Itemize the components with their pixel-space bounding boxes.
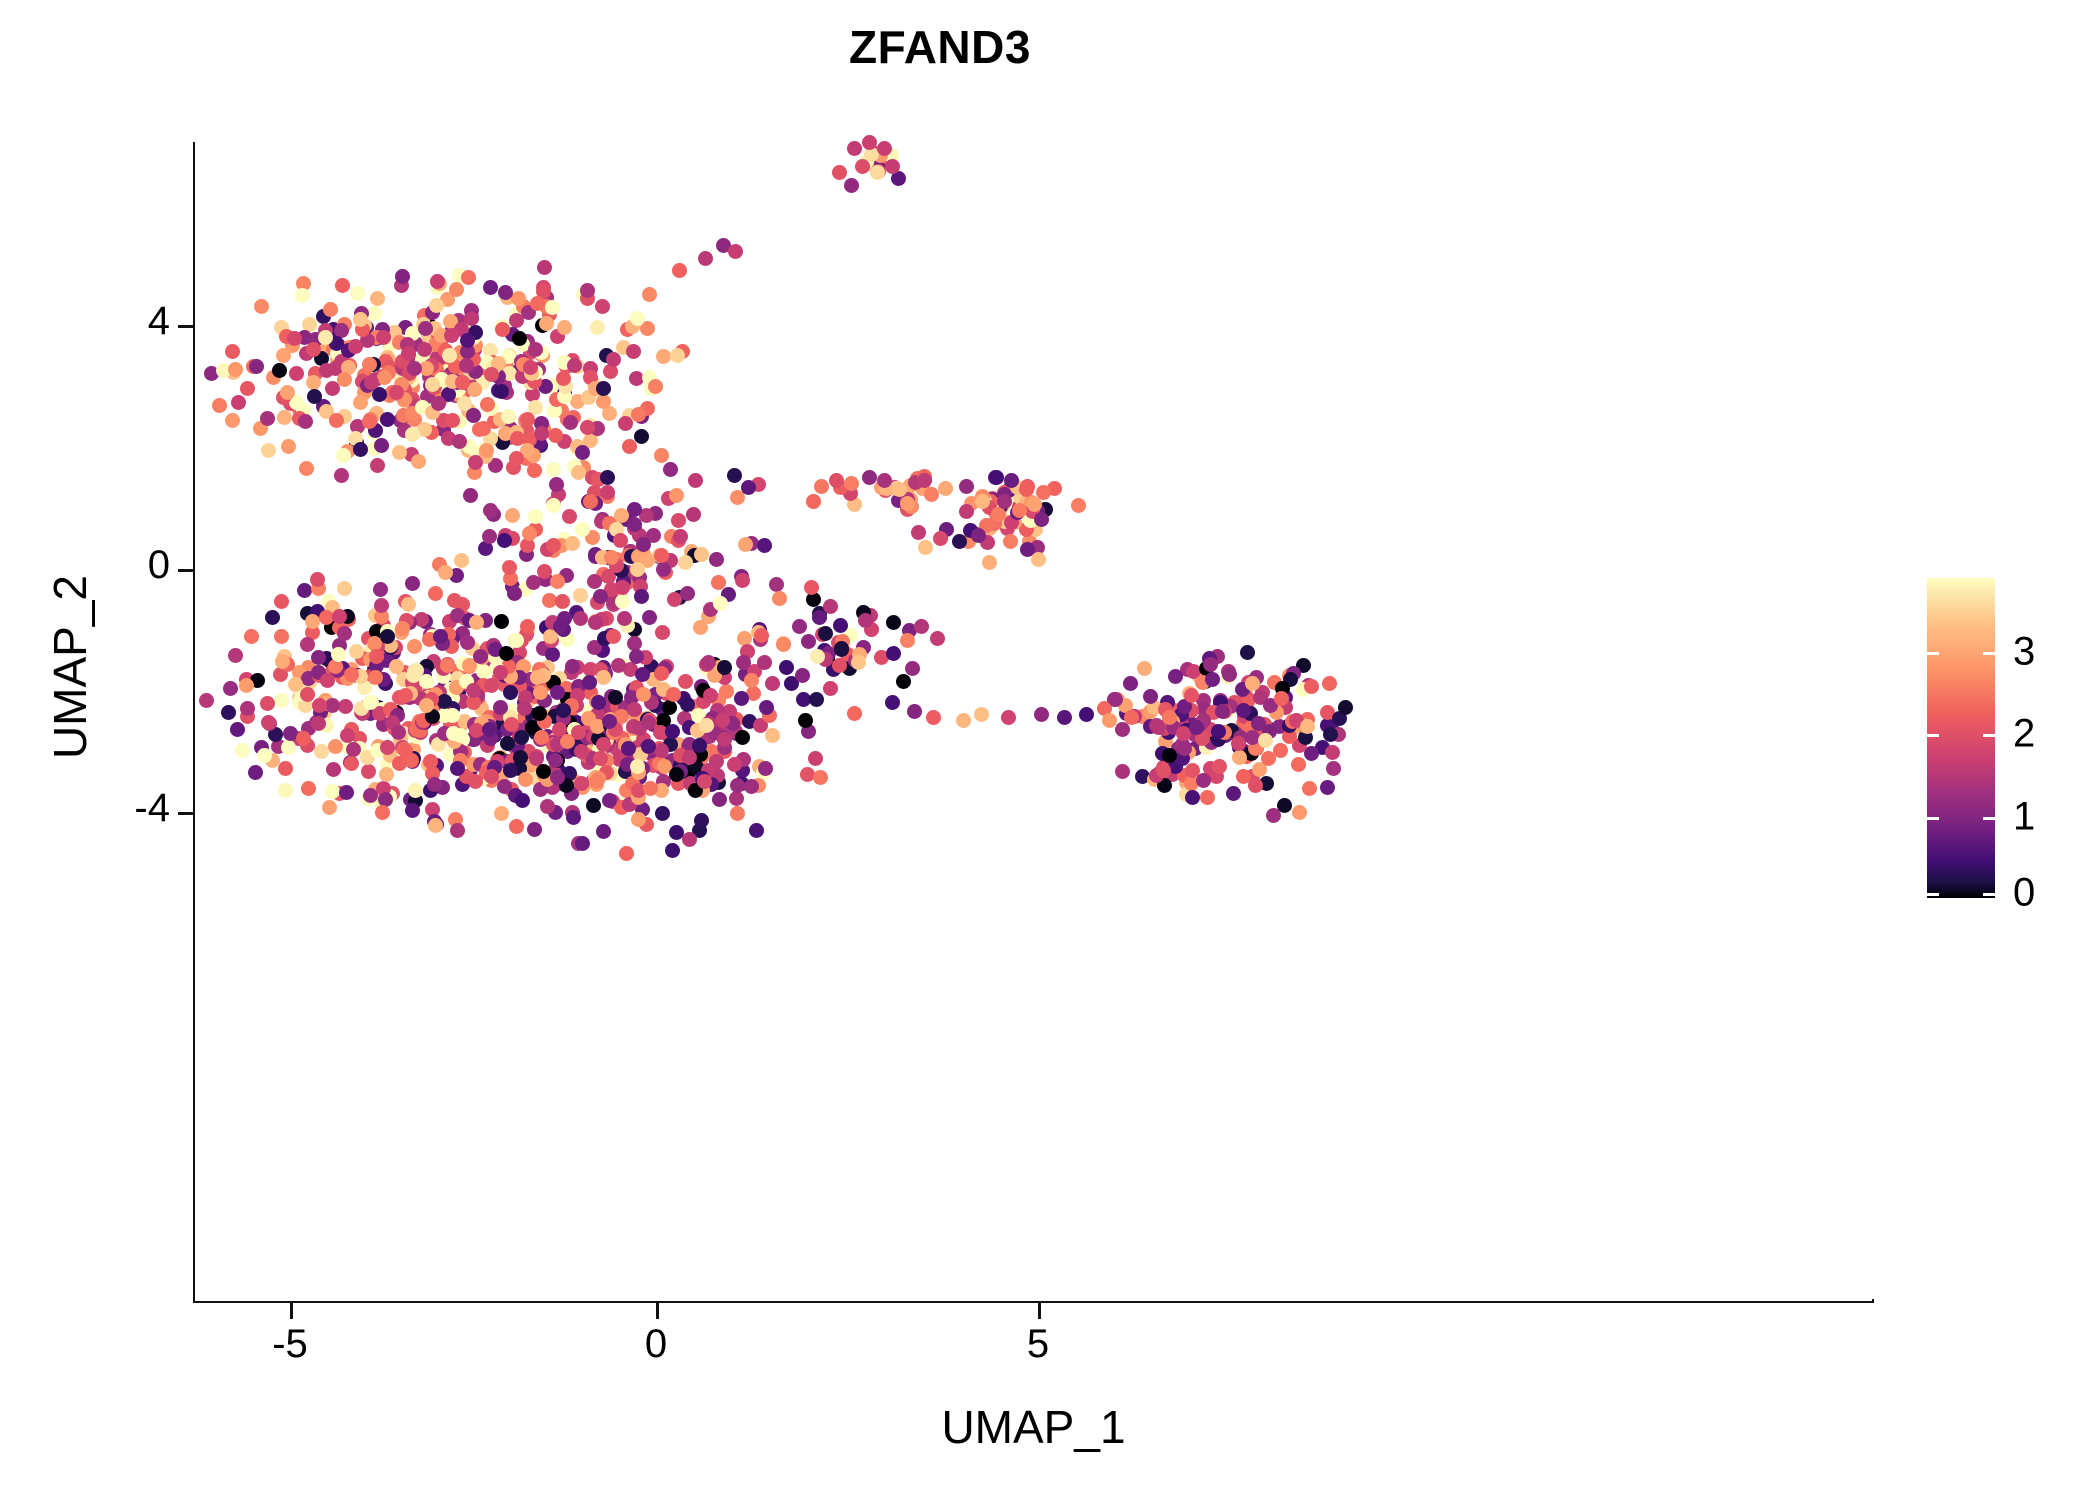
scatter-point [596, 670, 611, 685]
scatter-point [565, 536, 580, 551]
scatter-point [362, 414, 377, 429]
scatter-point [795, 668, 810, 683]
scatter-point [997, 494, 1012, 509]
scatter-point [1302, 781, 1317, 796]
scatter-point [329, 413, 344, 428]
scatter-point [1236, 703, 1251, 718]
scatter-point [484, 367, 499, 382]
scatter-point [427, 777, 442, 792]
scatter-point [254, 299, 269, 314]
scatter-point [499, 646, 514, 661]
scatter-point [1300, 719, 1315, 734]
scatter-point [669, 488, 684, 503]
scatter-point [808, 751, 823, 766]
scatter-point [301, 781, 316, 796]
scatter-point [468, 774, 483, 789]
scatter-point [776, 637, 791, 652]
scatter-point [728, 244, 743, 259]
scatter-point [565, 659, 580, 674]
scatter-point [938, 481, 953, 496]
scatter-point [417, 342, 432, 357]
y-tick-mark [178, 325, 194, 328]
scatter-point [602, 714, 617, 729]
scatter-point [501, 409, 516, 424]
scatter-point [528, 509, 543, 524]
scatter-point [469, 615, 484, 630]
legend-tick-mark [1927, 817, 1939, 820]
scatter-point [911, 525, 926, 540]
scatter-point [479, 443, 494, 458]
scatter-point [322, 800, 337, 815]
scatter-point [377, 370, 392, 385]
scatter-point [1102, 713, 1117, 728]
scatter-point [717, 660, 732, 675]
scatter-point [907, 704, 922, 719]
scatter-point [1079, 707, 1094, 722]
scatter-point [600, 470, 615, 485]
scatter-point [306, 342, 321, 357]
scatter-point [429, 298, 444, 313]
scatter-point [615, 580, 630, 595]
scatter-point [952, 534, 967, 549]
scatter-point [885, 159, 900, 174]
x-axis-title: UMAP_1 [195, 1400, 1872, 1454]
scatter-point [810, 649, 825, 664]
scatter-point [1071, 498, 1086, 513]
scatter-point [1168, 669, 1183, 684]
scatter-point [249, 359, 264, 374]
y-axis-title: UMAP_2 [43, 317, 97, 1017]
scatter-point [754, 628, 769, 643]
chart-root: ZFAND3 -505 40-4 UMAP_1 UMAP_2 3210 [0, 0, 2100, 1500]
scatter-point [483, 280, 498, 295]
scatter-point [472, 422, 487, 437]
scatter-point [350, 286, 365, 301]
scatter-point [1203, 657, 1218, 672]
scatter-point [459, 358, 474, 373]
scatter-point [526, 575, 541, 590]
scatter-point [741, 480, 756, 495]
scatter-point [493, 665, 508, 680]
legend-tick-label: 2 [2013, 712, 2035, 757]
scatter-point [804, 580, 819, 595]
scatter-point [896, 674, 911, 689]
scatter-point [586, 798, 601, 813]
scatter-point [627, 702, 642, 717]
scatter-point [1031, 552, 1046, 567]
scatter-point [389, 385, 404, 400]
scatter-point [735, 573, 750, 588]
scatter-point [635, 667, 650, 682]
scatter-point [678, 674, 693, 689]
scatter-point [405, 576, 420, 591]
scatter-point [886, 646, 901, 661]
scatter-point [974, 707, 989, 722]
scatter-point [534, 730, 549, 745]
scatter-point [1057, 710, 1072, 725]
scatter-point [727, 468, 742, 483]
scatter-point [445, 413, 460, 428]
scatter-point [989, 470, 1004, 485]
scatter-point [318, 330, 333, 345]
scatter-point [596, 394, 611, 409]
scatter-point [798, 713, 813, 728]
scatter-point [729, 791, 744, 806]
legend-tick-label: 3 [2013, 630, 2035, 675]
scatter-point [829, 473, 844, 488]
scatter-point [463, 488, 478, 503]
scatter-point [494, 614, 509, 629]
scatter-point [532, 706, 547, 721]
scatter-point [862, 470, 877, 485]
scatter-point [1291, 757, 1306, 772]
scatter-point [444, 328, 459, 343]
scatter-point [930, 631, 945, 646]
scatter-point [235, 743, 250, 758]
scatter-point [1232, 750, 1247, 765]
scatter-point [557, 320, 572, 335]
y-tick-mark [178, 812, 194, 815]
scatter-point [298, 414, 313, 429]
scatter-point [680, 697, 695, 712]
scatter-point [518, 772, 533, 787]
scatter-point [648, 379, 663, 394]
scatter-point [364, 375, 379, 390]
scatter-point [1185, 790, 1200, 805]
scatter-point [528, 342, 543, 357]
scatter-point [757, 655, 772, 670]
scatter-point [847, 141, 862, 156]
scatter-point [553, 619, 568, 634]
scatter-point [736, 655, 751, 670]
scatter-point [800, 767, 815, 782]
scatter-point [792, 619, 807, 634]
scatter-point [606, 629, 621, 644]
scatter-point [493, 700, 508, 715]
scatter-point [975, 494, 990, 509]
scatter-point [583, 494, 598, 509]
scatter-point [306, 375, 321, 390]
scatter-point [757, 538, 772, 553]
scatter-point [425, 377, 440, 392]
scatter-point [549, 477, 564, 492]
scatter-point [1292, 805, 1307, 820]
scatter-point [665, 724, 680, 739]
scatter-point [877, 473, 892, 488]
color-legend[interactable] [1927, 578, 1995, 898]
scatter-point [494, 806, 509, 821]
scatter-point [272, 363, 287, 378]
scatter-point [573, 611, 588, 626]
scatter-point [401, 597, 416, 612]
scatter-point [814, 479, 829, 494]
scatter-point [844, 178, 859, 193]
scatter-point [340, 728, 355, 743]
scatter-point [654, 448, 669, 463]
scatter-point [809, 692, 824, 707]
scatter-point [261, 443, 276, 458]
scatter-point [613, 533, 628, 548]
scatter-point [730, 806, 745, 821]
scatter-point [225, 344, 240, 359]
scatter-point [281, 439, 296, 454]
scatter-point [1034, 707, 1049, 722]
x-tick-mark [290, 1303, 293, 1319]
scatter-point [466, 408, 481, 423]
legend-tick-label: 0 [2013, 871, 2035, 916]
scatter-point [401, 346, 416, 361]
scatter-point [299, 461, 314, 476]
scatter-point [334, 468, 349, 483]
scatter-point [274, 693, 289, 708]
scatter-point [1322, 676, 1337, 691]
scatter-point [530, 296, 545, 311]
scatter-point [380, 740, 395, 755]
scatter-point [339, 785, 354, 800]
x-tick-label: -5 [220, 1322, 360, 1367]
scatter-point [374, 438, 389, 453]
scatter-point [1123, 676, 1138, 691]
scatter-point [278, 783, 293, 798]
legend-tick-label: 1 [2013, 795, 2035, 840]
scatter-point [319, 363, 334, 378]
scatter-point [265, 610, 280, 625]
legend-tick-mark [1927, 734, 1939, 737]
scatter-point [694, 547, 709, 562]
scatter-point [1184, 688, 1199, 703]
scatter-point [686, 507, 701, 522]
scatter-point [527, 822, 542, 837]
scatter-point [682, 832, 697, 847]
scatter-point [225, 413, 240, 428]
scatter-point [548, 428, 563, 443]
scatter-point [398, 743, 413, 758]
scatter-point [325, 381, 340, 396]
scatter-point [769, 577, 784, 592]
scatter-point [673, 529, 688, 544]
scatter-point [656, 562, 671, 577]
scatter-point [626, 344, 641, 359]
scatter-point [326, 762, 341, 777]
scatter-point [580, 420, 595, 435]
scatter-point [276, 348, 291, 363]
scatter-point [1273, 743, 1288, 758]
scatter-point [548, 753, 563, 768]
scatter-point [1143, 689, 1158, 704]
scatter-point [537, 260, 552, 275]
scatter-point [1323, 727, 1338, 742]
scatter-point [851, 655, 866, 670]
scatter-point [515, 793, 530, 808]
scatter-point [611, 658, 626, 673]
scatter-point [671, 513, 686, 528]
scatter-point [600, 485, 615, 500]
scatter-point [886, 615, 901, 630]
scatter-point [344, 667, 359, 682]
scatter-point [1222, 667, 1237, 682]
scatter-point [862, 135, 877, 150]
legend-tick-mark [1927, 893, 1939, 896]
scatter-point [380, 629, 395, 644]
color-legend-gradient [1927, 578, 1995, 898]
scatter-point [1162, 710, 1177, 725]
scatter-point [348, 339, 363, 354]
scatter-point [295, 288, 310, 303]
scatter-point [1027, 497, 1042, 512]
scatter-point [1004, 473, 1019, 488]
scatter-point [311, 650, 326, 665]
scatter-point [389, 659, 404, 674]
scatter-point [274, 594, 289, 609]
scatter-point [454, 553, 469, 568]
scatter-point [1196, 773, 1211, 788]
scatter-plot-panel [195, 142, 1872, 1301]
scatter-point [223, 681, 238, 696]
scatter-point [497, 533, 512, 548]
scatter-point [622, 439, 637, 454]
scatter-point [574, 776, 589, 791]
scatter-point [505, 508, 520, 523]
scatter-point [698, 251, 713, 266]
scatter-point [596, 824, 611, 839]
scatter-point [509, 819, 524, 834]
scatter-point [1137, 661, 1152, 676]
scatter-point [522, 526, 537, 541]
scatter-point [1200, 790, 1215, 805]
scatter-point [823, 599, 838, 614]
scatter-point [703, 688, 718, 703]
scatter-point [588, 615, 603, 630]
scatter-point [1205, 672, 1220, 687]
scatter-point [337, 626, 352, 641]
scatter-point [593, 751, 608, 766]
scatter-point [697, 774, 712, 789]
scatter-point [1124, 710, 1139, 725]
scatter-point [460, 333, 475, 348]
scatter-point [573, 588, 588, 603]
scatter-point [1304, 746, 1319, 761]
scatter-point [320, 673, 335, 688]
scatter-point [361, 764, 376, 779]
scatter-point [446, 726, 461, 741]
scatter-point [513, 750, 528, 765]
scatter-point [335, 278, 350, 293]
scatter-point [1245, 676, 1260, 691]
scatter-point [311, 716, 326, 731]
scatter-point [918, 540, 933, 555]
scatter-point [530, 670, 545, 685]
scatter-point [328, 739, 343, 754]
scatter-point [688, 473, 703, 488]
scatter-point [765, 728, 780, 743]
scatter-point [300, 687, 315, 702]
scatter-point [1211, 724, 1226, 739]
scatter-point [656, 349, 671, 364]
scatter-point [582, 675, 597, 690]
scatter-point [363, 788, 378, 803]
scatter-point [693, 620, 708, 635]
scatter-point [1266, 808, 1281, 823]
scatter-point [1325, 745, 1340, 760]
scatter-point [917, 473, 932, 488]
scatter-point [288, 677, 303, 692]
scatter-point [240, 381, 255, 396]
scatter-point [325, 784, 340, 799]
x-tick-label: 5 [968, 1322, 1108, 1367]
scatter-point [310, 572, 325, 587]
scatter-point [376, 330, 391, 345]
scatter-point [221, 705, 236, 720]
scatter-point [678, 555, 693, 570]
scatter-point [900, 496, 915, 511]
scatter-point [959, 504, 974, 519]
scatter-point [666, 687, 681, 702]
y-tick-mark [178, 569, 194, 572]
scatter-point [779, 660, 794, 675]
scatter-point [630, 759, 645, 774]
scatter-point [665, 843, 680, 858]
scatter-point [332, 609, 347, 624]
scatter-point [654, 666, 669, 681]
scatter-point [484, 769, 499, 784]
scatter-point [517, 701, 532, 716]
scatter-point [642, 287, 657, 302]
scatter-point [956, 713, 971, 728]
scatter-point [1251, 716, 1266, 731]
scatter-point [575, 836, 590, 851]
scatter-point [314, 744, 329, 759]
legend-tick-mark [1983, 817, 1995, 820]
scatter-point [1226, 786, 1241, 801]
scatter-point [260, 411, 275, 426]
scatter-point [228, 648, 243, 663]
scatter-point [407, 639, 422, 654]
scatter-point [971, 528, 986, 543]
scatter-point [575, 445, 590, 460]
scatter-point [562, 509, 577, 524]
scatter-point [670, 348, 685, 363]
scatter-point [199, 693, 214, 708]
scatter-point [373, 582, 388, 597]
scatter-point [1326, 761, 1341, 776]
scatter-point [392, 756, 407, 771]
scatter-point [617, 611, 632, 626]
scatter-point [709, 552, 724, 567]
scatter-point [1248, 778, 1263, 793]
scatter-point [300, 637, 315, 652]
scatter-point [331, 647, 346, 662]
scatter-point [711, 575, 726, 590]
scatter-point [1304, 679, 1319, 694]
scatter-point [523, 360, 538, 375]
scatter-point [590, 320, 605, 335]
scatter-point [503, 685, 518, 700]
legend-tick-mark [1983, 652, 1995, 655]
scatter-point [1162, 748, 1177, 763]
scatter-point [556, 703, 571, 718]
scatter-point [418, 321, 433, 336]
scatter-point [289, 366, 304, 381]
scatter-point [735, 730, 750, 745]
scatter-point [749, 823, 764, 838]
scatter-point [1176, 726, 1191, 741]
scatter-point [1003, 534, 1018, 549]
scatter-point [634, 589, 649, 604]
scatter-point [618, 416, 633, 431]
scatter-point [534, 426, 549, 441]
scatter-point [772, 591, 787, 606]
scatter-point [608, 690, 623, 705]
